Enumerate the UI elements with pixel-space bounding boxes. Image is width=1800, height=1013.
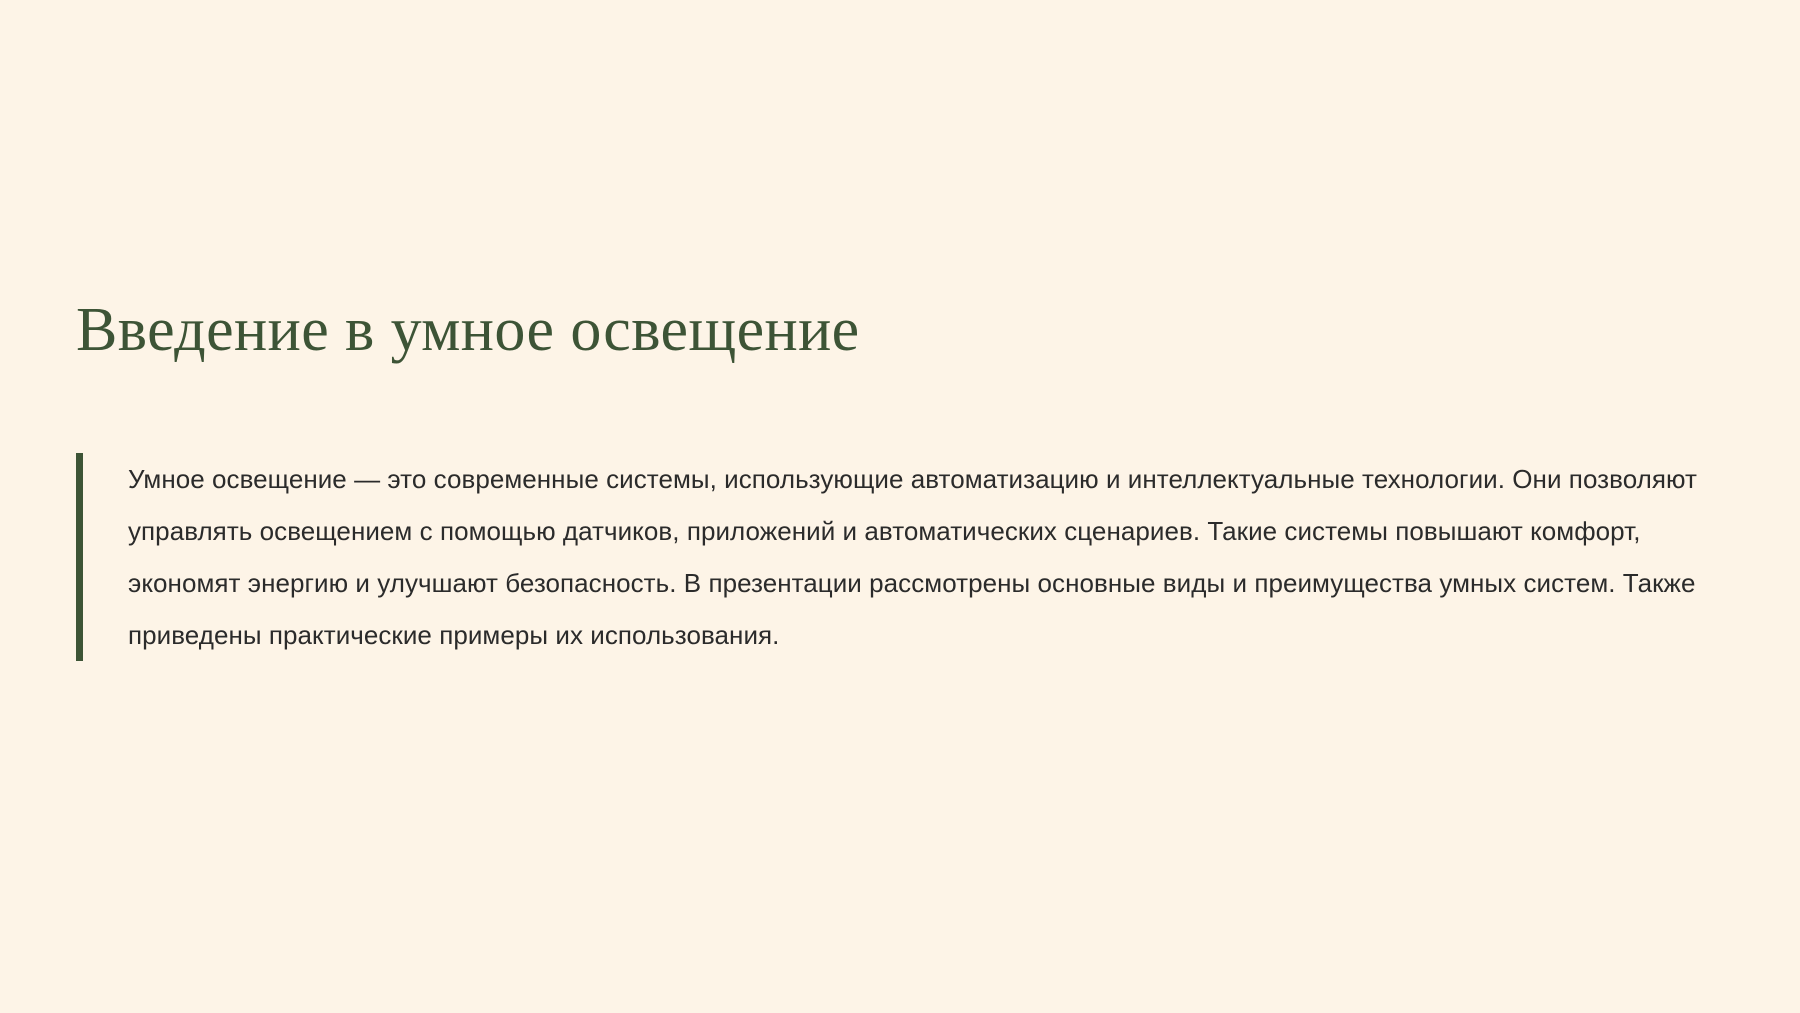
presentation-slide: Введение в умное освещение Умное освещен… bbox=[0, 0, 1800, 1013]
body-text-block: Умное освещение — это современные систем… bbox=[76, 453, 1736, 661]
body-paragraph: Умное освещение — это современные систем… bbox=[128, 453, 1736, 661]
accent-bar bbox=[76, 453, 83, 661]
page-title: Введение в умное освещение bbox=[76, 296, 1736, 365]
slide-content-container: Введение в умное освещение Умное освещен… bbox=[76, 296, 1736, 661]
